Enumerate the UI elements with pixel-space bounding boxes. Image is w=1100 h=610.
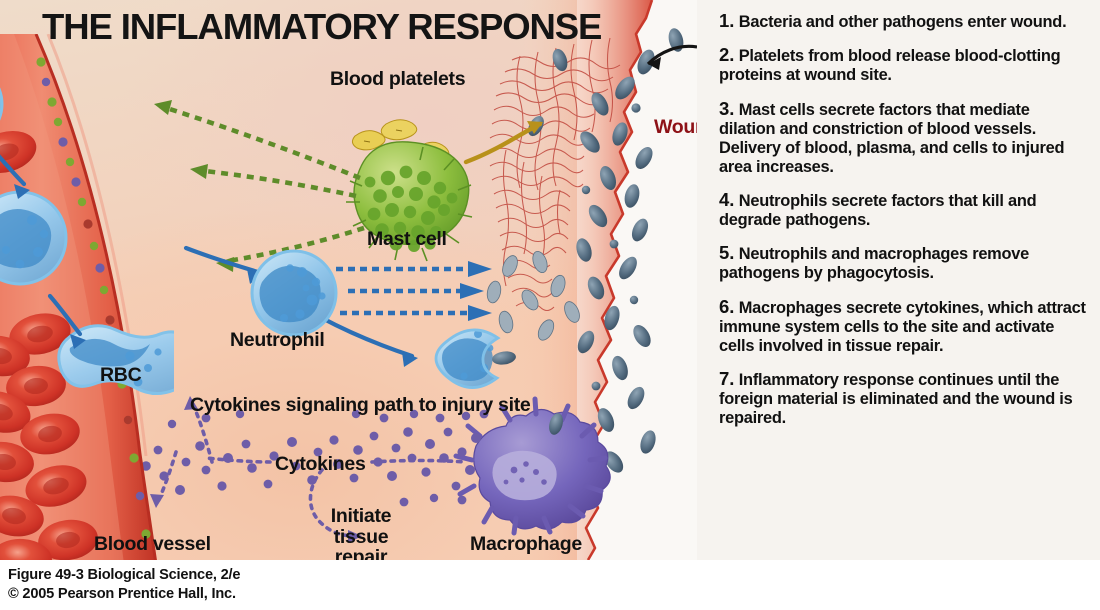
step-text-1: Bacteria and other pathogens enter wound… bbox=[739, 13, 1067, 31]
label-neutrophil: Neutrophil bbox=[230, 329, 325, 352]
figure-caption: Figure 49-3 Biological Science, 2/e © 20… bbox=[0, 560, 1100, 610]
step-item-2: 2. Platelets from blood release blood-cl… bbox=[719, 44, 1088, 85]
step-number-7: 7. bbox=[719, 368, 734, 389]
step-number-6: 6. bbox=[719, 296, 734, 317]
step-text-2: Platelets from blood release blood-clott… bbox=[719, 47, 1060, 84]
step-number-4: 4. bbox=[719, 189, 734, 210]
neutrophil-phagocytosing bbox=[436, 330, 517, 388]
label-cytokines-path: Cytokines signaling path to injury site bbox=[190, 394, 530, 417]
step-item-1: 1. Bacteria and other pathogens enter wo… bbox=[719, 10, 1088, 32]
step-item-5: 5. Neutrophils and macrophages remove pa… bbox=[719, 242, 1088, 283]
blood-vessel bbox=[0, 34, 174, 560]
label-blood-platelets: Blood platelets bbox=[330, 68, 465, 91]
label-wound: Wound bbox=[654, 116, 697, 139]
inflammation-illustration: THE INFLAMMATORY RESPONSE Blood platelet… bbox=[0, 0, 697, 560]
secretion-arrows bbox=[336, 269, 470, 313]
step-item-6: 6. Macrophages secrete cytokines, which … bbox=[719, 296, 1088, 356]
figure-body: THE INFLAMMATORY RESPONSE Blood platelet… bbox=[0, 0, 1100, 560]
step-text-3: Mast cells secrete factors that mediate … bbox=[719, 101, 1064, 176]
page-title: THE INFLAMMATORY RESPONSE bbox=[42, 6, 601, 48]
label-macrophage: Macrophage bbox=[470, 533, 582, 556]
caption-line-2: © 2005 Pearson Prentice Hall, Inc. bbox=[8, 585, 1100, 604]
step-item-4: 4. Neutrophils secrete factors that kill… bbox=[719, 189, 1088, 230]
step-number-5: 5. bbox=[719, 242, 734, 263]
step-number-1: 1. bbox=[719, 10, 734, 31]
step-item-7: 7. Inflammatory response continues until… bbox=[719, 368, 1088, 428]
neutrophil-center bbox=[252, 251, 336, 335]
step-number-3: 3. bbox=[719, 98, 734, 119]
figure-page: THE INFLAMMATORY RESPONSE Blood platelet… bbox=[0, 0, 1100, 610]
steps-panel: 1. Bacteria and other pathogens enter wo… bbox=[697, 0, 1100, 560]
label-mast-cell: Mast cell bbox=[367, 228, 447, 251]
step-text-5: Neutrophils and macrophages remove patho… bbox=[719, 245, 1029, 282]
caption-line-1: Figure 49-3 Biological Science, 2/e bbox=[8, 566, 1100, 585]
step-text-7: Inflammatory response continues until th… bbox=[719, 371, 1072, 427]
chemotaxis-arrows bbox=[160, 106, 364, 262]
step-text-4: Neutrophils secrete factors that kill an… bbox=[719, 192, 1036, 229]
step-text-6: Macrophages secrete cytokines, which att… bbox=[719, 299, 1086, 355]
label-blood-vessel: Blood vessel bbox=[94, 533, 211, 556]
step-item-3: 3. Mast cells secrete factors that media… bbox=[719, 98, 1088, 177]
label-initiate-tissue-repair: Initiate tissue repair bbox=[306, 506, 416, 560]
step-number-2: 2. bbox=[719, 44, 734, 65]
label-cytokines: Cytokines bbox=[275, 453, 366, 476]
label-rbc: RBC bbox=[100, 364, 141, 387]
